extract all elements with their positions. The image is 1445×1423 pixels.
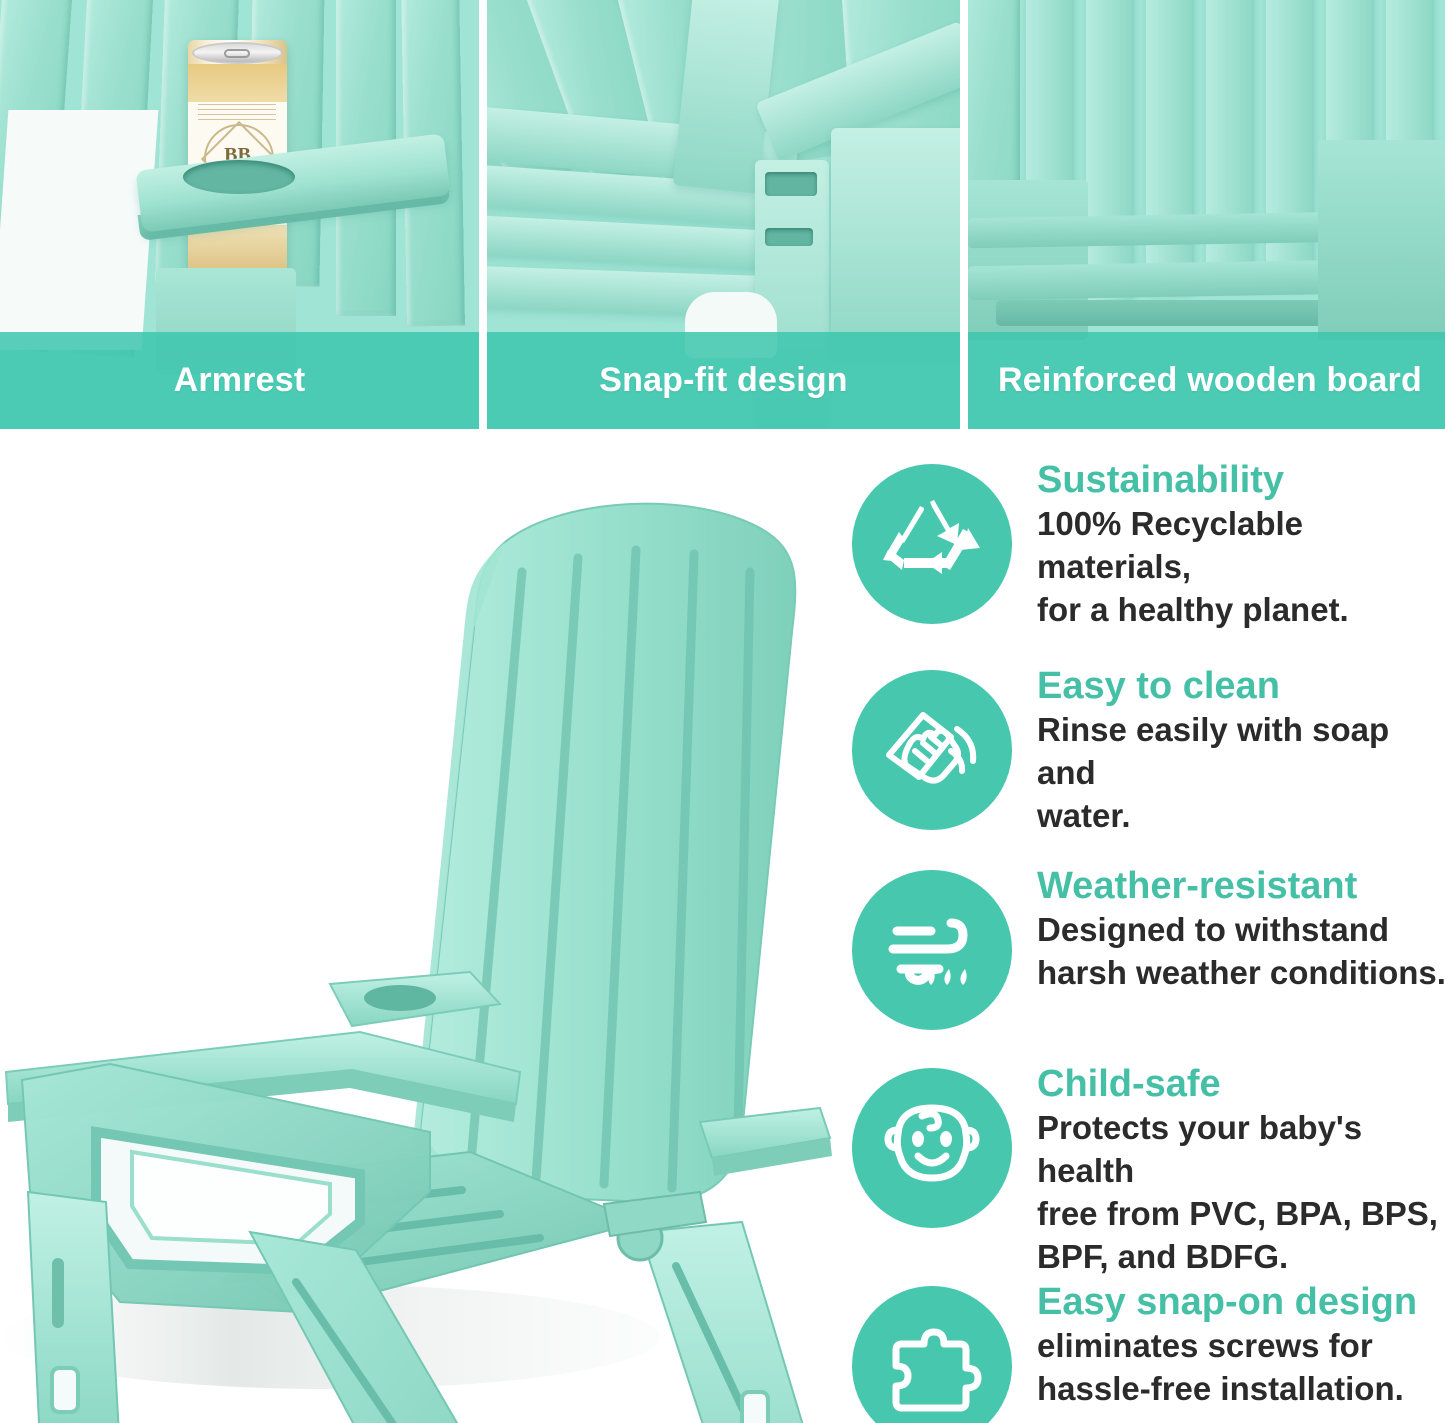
feature-text-block: Easy to clean Rinse easily with soap and… [1037, 664, 1445, 838]
feature-item-weather-resistant: Weather-resistant Designed to withstand … [845, 858, 1445, 1056]
detail-panel-armrest: BB Armrest [0, 0, 479, 429]
puzzle-piece-icon [852, 1286, 1012, 1423]
chair-illustration [0, 432, 850, 1423]
snap-notch [765, 172, 817, 196]
photo-highlight [0, 110, 158, 350]
panel-caption-label: Armrest [0, 361, 479, 400]
feature-description: 100% Recyclable materials, for a healthy… [1037, 503, 1445, 632]
baby-face-icon-glyph [878, 1094, 986, 1202]
panel-caption-band: Armrest [0, 332, 479, 429]
feature-item-easy-to-clean: Easy to clean Rinse easily with soap and… [845, 658, 1445, 858]
feature-list: Sustainability 100% Recyclable materials… [845, 452, 1445, 1423]
hero-chair-image [0, 432, 850, 1423]
snap-notch [765, 228, 813, 246]
feature-description: Rinse easily with soap and water. [1037, 709, 1445, 838]
panel-caption-band: Reinforced wooden board [968, 332, 1445, 429]
feature-title: Child-safe [1037, 1062, 1445, 1107]
feature-title: Easy to clean [1037, 664, 1445, 709]
detail-panel-snapfit: Snap-fit design [487, 0, 960, 429]
wind-rain-icon [852, 870, 1012, 1030]
feature-description: Protects your baby's health free from PV… [1037, 1107, 1445, 1279]
chair-rear-right-leg [640, 1222, 832, 1423]
feature-description: eliminates screws for hassle-free instal… [1037, 1325, 1445, 1411]
feature-text-block: Sustainability 100% Recyclable materials… [1037, 458, 1445, 632]
feature-title: Weather-resistant [1037, 864, 1445, 909]
side-panel [831, 128, 960, 358]
wind-rain-icon-glyph [879, 897, 985, 1003]
chair-front-leg-left [28, 1192, 120, 1423]
wiping-hand-icon-glyph [879, 697, 985, 803]
feature-description: Designed to withstand harsh weather cond… [1037, 909, 1445, 995]
feature-text-block: Child-safe Protects your baby's health f… [1037, 1062, 1445, 1278]
right-frame-post [1318, 140, 1445, 340]
puzzle-piece-icon-glyph [880, 1314, 984, 1418]
feature-text-block: Easy snap-on design eliminates screws fo… [1037, 1280, 1445, 1411]
detail-panel-reinforced-board: Reinforced wooden board [968, 0, 1445, 429]
feature-item-child-safe: Child-safe Protects your baby's health f… [845, 1056, 1445, 1274]
feature-title: Easy snap-on design [1037, 1280, 1445, 1325]
panel-caption-band: Snap-fit design [487, 332, 960, 429]
can-pull-tab [224, 49, 250, 58]
feature-text-block: Weather-resistant Designed to withstand … [1037, 864, 1445, 995]
recycle-icon [852, 464, 1012, 624]
wiping-hand-icon [852, 670, 1012, 830]
panel-caption-label: Reinforced wooden board [968, 361, 1422, 400]
can-label-text-lines [198, 104, 276, 120]
panel-caption-label: Snap-fit design [487, 361, 960, 400]
recycle-icon-glyph [880, 492, 984, 596]
product-infographic: BB Armrest [0, 0, 1445, 1423]
detail-photo-strip: BB Armrest [0, 0, 1445, 429]
feature-item-sustainability: Sustainability 100% Recyclable materials… [845, 452, 1445, 658]
cup-holder-hole [183, 160, 295, 194]
feature-item-snap-on-design: Easy snap-on design eliminates screws fo… [845, 1274, 1445, 1423]
baby-face-icon [852, 1068, 1012, 1228]
feature-title: Sustainability [1037, 458, 1445, 503]
